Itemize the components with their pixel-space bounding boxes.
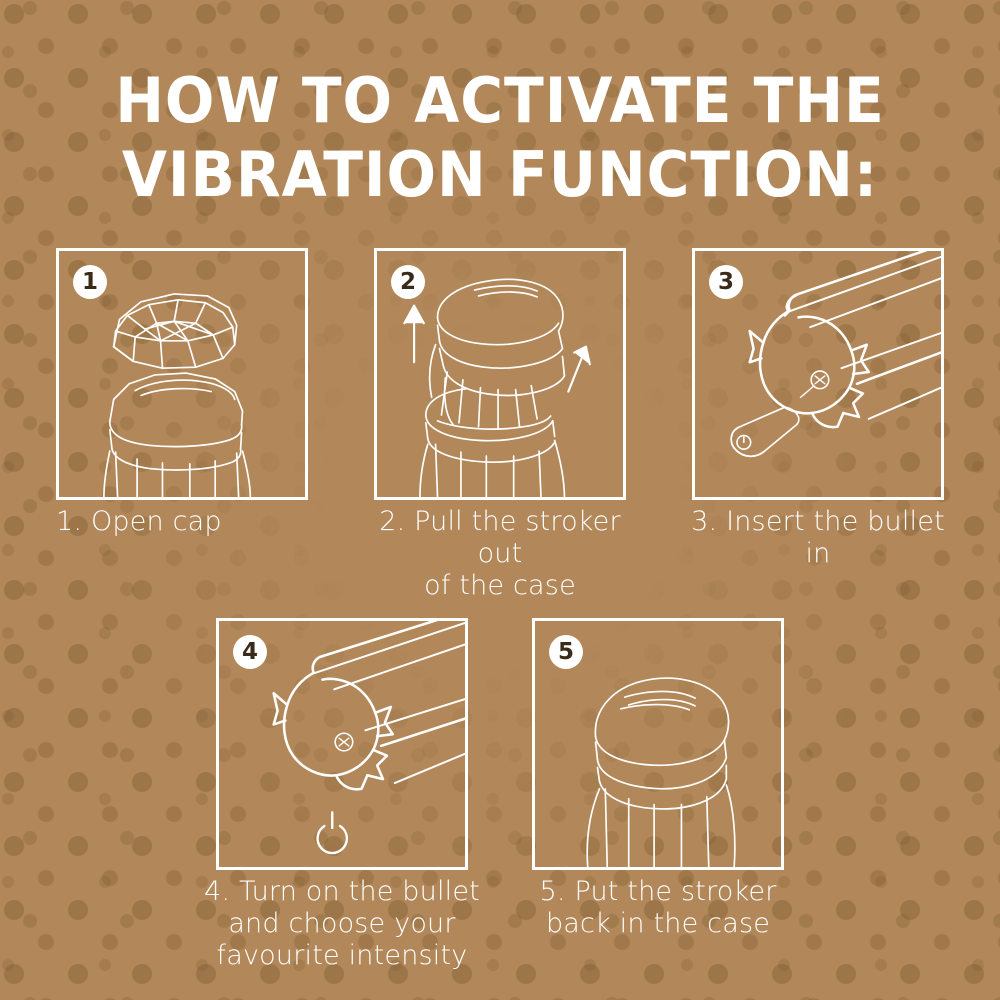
step-5-caption: 5. Put the stroker back in the case bbox=[524, 876, 792, 940]
step-1-panel: 1 bbox=[56, 248, 308, 500]
step-3-caption: 3. Insert the bullet in bbox=[684, 506, 952, 570]
step-1: 1 bbox=[56, 248, 308, 500]
step-4-number-badge: 4 bbox=[233, 635, 267, 669]
step-4-panel: 4 bbox=[216, 618, 468, 870]
step-2-number-badge: 2 bbox=[391, 265, 425, 299]
step-5-panel: 5 bbox=[532, 618, 784, 870]
step-2-panel: 2 bbox=[374, 248, 626, 500]
step-1-number-badge: 1 bbox=[73, 265, 107, 299]
step-3: 3 bbox=[692, 248, 944, 500]
step-3-panel: 3 bbox=[692, 248, 944, 500]
step-5-number-badge: 5 bbox=[549, 635, 583, 669]
page-title: HOW TO ACTIVATE THE VIBRATION FUNCTION: bbox=[30, 64, 970, 212]
step-4-caption: 4. Turn on the bullet and choose your fa… bbox=[200, 876, 484, 972]
step-2: 2 bbox=[374, 248, 626, 500]
step-2-caption: 2. Pull the stroker out of the case bbox=[366, 506, 634, 602]
instruction-poster: HOW TO ACTIVATE THE VIBRATION FUNCTION: bbox=[0, 0, 1000, 1000]
step-5: 5 bbox=[532, 618, 784, 870]
step-3-number-badge: 3 bbox=[709, 265, 743, 299]
page-title-line-2: VIBRATION FUNCTION: bbox=[30, 138, 970, 212]
page-title-line-1: HOW TO ACTIVATE THE bbox=[30, 64, 970, 138]
step-1-caption: 1. Open cap bbox=[56, 506, 356, 538]
power-icon-group bbox=[318, 812, 347, 853]
step-4: 4 bbox=[216, 618, 468, 870]
